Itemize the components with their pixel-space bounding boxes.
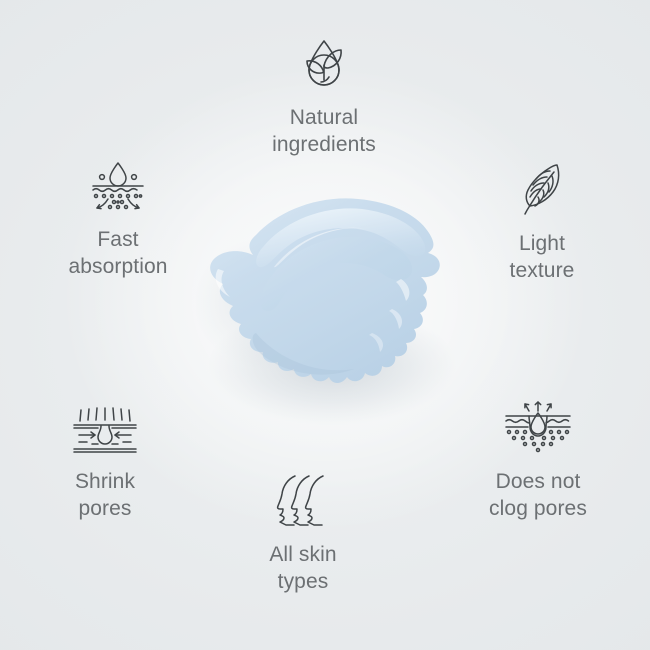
feature-label: All skin types [269,542,336,596]
cream-swatch [196,183,458,431]
feature-fast-absorption: Fast absorption [23,160,213,281]
infographic-canvas: Natural ingredients [0,0,650,650]
feature-label: Shrink pores [75,469,135,523]
feather-icon [514,160,570,218]
feature-label: Natural ingredients [272,105,376,159]
droplet-absorption-icon [83,160,153,214]
feature-natural-ingredients: Natural ingredients [229,36,419,159]
feature-label: Does not clog pores [489,469,587,523]
pore-breathe-icon [498,398,578,456]
leaf-drop-icon [295,36,353,92]
feature-does-not-clog-pores: Does not clog pores [443,398,633,523]
feature-all-skin-types: All skin types [208,473,398,596]
feature-shrink-pores: Shrink pores [10,406,200,523]
pore-shrink-icon [68,406,142,456]
feature-label: Light texture [510,231,575,285]
three-faces-icon [273,473,333,529]
feature-label: Fast absorption [68,227,167,281]
feature-light-texture: Light texture [447,160,637,285]
